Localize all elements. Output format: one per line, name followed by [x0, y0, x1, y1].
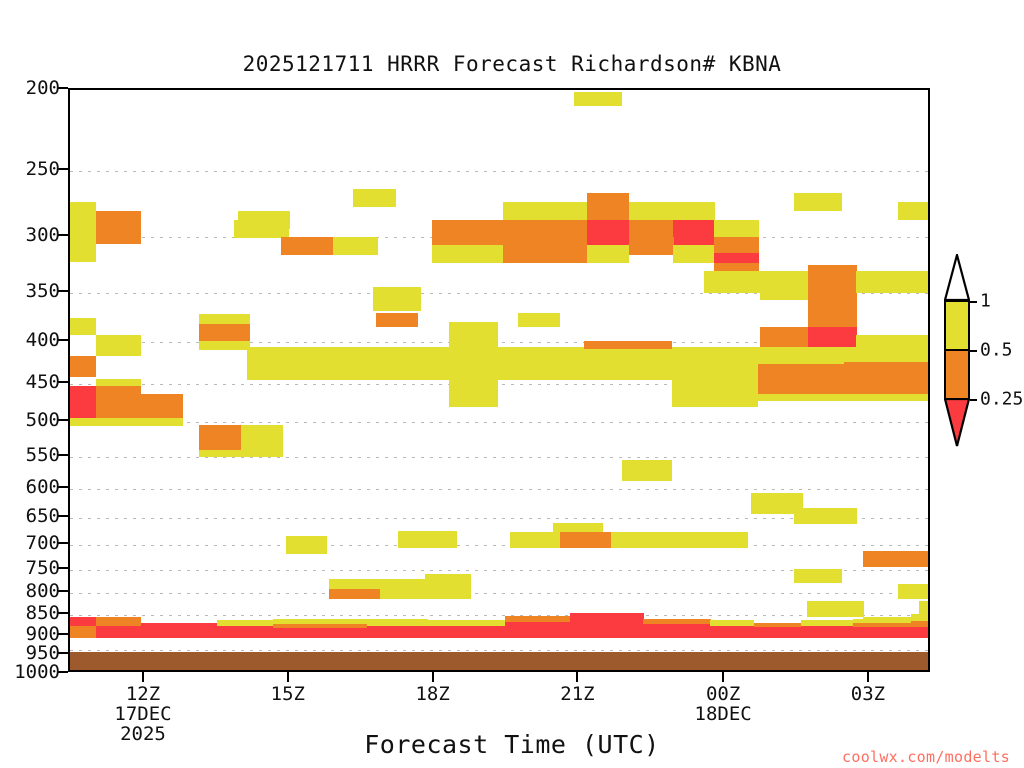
heatmap-cell	[199, 324, 250, 342]
heatmap-cell	[70, 238, 96, 262]
heatmap-cell	[141, 394, 183, 419]
heatmap-cell	[329, 589, 381, 599]
gridline	[70, 593, 928, 594]
terrain-block	[70, 652, 928, 670]
colorbar-tick	[970, 399, 977, 401]
chart-screenshot: 2025121711 HRRR Forecast Richardson# KBN…	[0, 0, 1024, 768]
heatmap-cell	[428, 626, 506, 638]
chart-title: 2025121711 HRRR Forecast Richardson# KBN…	[0, 52, 1024, 76]
heatmap-cell	[574, 92, 622, 106]
y-tick-label: 1000	[14, 661, 60, 683]
heatmap-cell	[794, 193, 842, 211]
colorbar-segment-yellow	[944, 300, 970, 349]
x-tick-label-line: 18DEC	[695, 705, 752, 725]
gridline	[70, 615, 928, 616]
x-tick-label-line: 17DEC	[114, 705, 171, 725]
x-tick-mark	[287, 672, 289, 682]
heatmap-cell	[584, 347, 673, 380]
colorbar-arrow-below-min	[944, 398, 970, 451]
heatmap-cell	[503, 202, 588, 220]
heatmap-cell	[70, 418, 141, 426]
heatmap-cell	[663, 532, 748, 548]
heatmap-cell	[367, 626, 428, 638]
y-tick-label: 650	[26, 505, 60, 527]
colorbar-segment-orange	[944, 349, 970, 398]
y-tick-label: 750	[26, 557, 60, 579]
heatmap-cell	[281, 237, 333, 255]
heatmap-cell	[273, 628, 368, 638]
heatmap-cell	[754, 627, 802, 638]
y-tick-label: 450	[26, 371, 60, 393]
x-tick-label-line: 03Z	[851, 685, 885, 705]
heatmap-cell	[853, 627, 912, 638]
heatmap-cell	[518, 313, 560, 326]
y-tick-label: 800	[26, 580, 60, 602]
x-tick-label-line: 18Z	[415, 685, 449, 705]
heatmap-cell	[673, 202, 714, 220]
heatmap-cell	[96, 211, 141, 229]
heatmap-cell	[70, 335, 96, 356]
y-tick-label: 600	[26, 476, 60, 498]
heatmap-cell	[629, 237, 674, 255]
heatmap-cell	[96, 228, 141, 243]
heatmap-cell	[141, 623, 217, 639]
x-tick-label-line: 12Z	[114, 685, 171, 705]
heatmap-cell	[96, 335, 141, 356]
y-axis: 2002503003504004505005506006507007508008…	[0, 88, 68, 672]
x-tick-mark	[142, 672, 144, 682]
heatmap-cell	[856, 271, 928, 293]
heatmap-cell	[373, 287, 421, 311]
x-tick-mark	[576, 672, 578, 682]
heatmap-cell	[199, 425, 241, 450]
heatmap-cell	[510, 532, 561, 548]
heatmap-cell	[672, 347, 759, 380]
heatmap-cell	[794, 569, 842, 584]
colorbar-arrow-above-max	[944, 254, 970, 305]
heatmap-cell	[247, 347, 334, 380]
gridline	[70, 422, 928, 423]
x-tick-mark	[432, 672, 434, 682]
heatmap-cell	[70, 386, 96, 419]
heatmap-cell	[587, 193, 629, 220]
heatmap-cell	[643, 624, 711, 638]
heatmap-cell	[498, 347, 585, 380]
x-tick-label-line: 15Z	[271, 685, 305, 705]
heatmap-cell	[333, 237, 378, 255]
heatmap-cell	[844, 347, 928, 362]
heatmap-cell	[911, 627, 928, 638]
heatmap-cell	[560, 532, 612, 548]
heatmap-cell	[96, 626, 141, 638]
colorbar-legend: 10.50.25	[944, 300, 970, 446]
heatmap-cell	[587, 220, 629, 246]
x-tick-mark	[867, 672, 869, 682]
x-tick-label: 00Z18DEC	[695, 685, 752, 725]
heatmap-cell	[794, 508, 857, 525]
y-tick-label: 250	[26, 158, 60, 180]
colorbar-label: 1	[980, 291, 991, 312]
gridline	[70, 171, 928, 172]
heatmap-cell	[234, 220, 289, 238]
heatmap-cell	[398, 531, 457, 548]
x-tick-label: 03Z	[851, 685, 885, 705]
heatmap-cell	[70, 202, 96, 239]
heatmap-cell	[70, 356, 96, 378]
heatmap-cell	[286, 536, 328, 554]
heatmap-cell	[622, 460, 673, 481]
heatmap-cell	[672, 379, 759, 406]
heatmap-cell	[70, 318, 96, 337]
heatmap-cell	[70, 626, 96, 638]
gridline	[70, 545, 928, 546]
heatmap-cell	[380, 579, 425, 598]
heatmap-cell	[714, 220, 759, 238]
heatmap-cell	[570, 613, 644, 638]
gridline	[70, 489, 928, 490]
heatmap-cell	[376, 313, 418, 326]
y-tick-label: 550	[26, 444, 60, 466]
heatmap-cell	[425, 574, 470, 599]
y-tick-label: 850	[26, 602, 60, 624]
colorbar-tick	[970, 350, 977, 352]
heatmap-cell	[801, 626, 853, 638]
plot-area	[68, 88, 930, 672]
heatmap-cell	[710, 626, 754, 639]
x-tick-mark	[722, 672, 724, 682]
heatmap-cell	[241, 425, 283, 457]
y-tick-label: 350	[26, 280, 60, 302]
heatmap-cell	[432, 245, 503, 263]
y-tick-label: 200	[26, 77, 60, 99]
heatmap-cell	[505, 616, 570, 622]
heatmap-cell	[629, 202, 674, 220]
heatmap-cell	[96, 386, 141, 419]
colorbar-label: 0.5	[980, 340, 1013, 361]
heatmap-cell	[808, 292, 857, 328]
y-tick-label: 500	[26, 409, 60, 431]
heatmap-cell	[353, 189, 397, 207]
x-tick-label: 15Z	[271, 685, 305, 705]
y-tick-label: 400	[26, 329, 60, 351]
heatmap-cell	[807, 601, 864, 617]
heatmap-cell	[363, 347, 450, 380]
heatmap-cell	[714, 237, 759, 253]
heatmap-cell	[758, 364, 845, 394]
x-tick-label-line: 21Z	[560, 685, 594, 705]
heatmap-cell	[449, 322, 498, 347]
x-tick-label: 21Z	[560, 685, 594, 705]
heatmap-cell	[808, 265, 857, 292]
heatmap-cell	[432, 220, 503, 246]
heatmap-cell	[584, 341, 673, 349]
heatmap-cell	[863, 551, 928, 567]
heatmap-cell	[199, 341, 250, 350]
heatmap-cell	[587, 245, 629, 263]
y-tick-label: 700	[26, 532, 60, 554]
heatmap-cell	[199, 450, 241, 458]
heatmap-cell	[449, 379, 498, 406]
heatmap-cell	[503, 245, 588, 263]
colorbar-divider	[944, 349, 970, 351]
surface-gridline	[70, 650, 928, 651]
colorbar-tick	[970, 301, 977, 303]
x-tick-label: 18Z	[415, 685, 449, 705]
heatmap-cell	[844, 362, 928, 395]
heatmap-cell	[141, 418, 183, 426]
heatmap-cell	[898, 202, 928, 220]
heatmap-cell	[611, 532, 663, 548]
colorbar-label: 0.25	[980, 389, 1023, 410]
credit-watermark: coolwx.com/modelts	[842, 748, 1010, 766]
heatmap-cells	[70, 90, 928, 670]
x-tick-label-line: 00Z	[695, 685, 752, 705]
heatmap-cell	[704, 271, 761, 293]
heatmap-cell	[714, 253, 759, 264]
heatmap-cell	[217, 626, 274, 638]
heatmap-cell	[760, 271, 809, 293]
heatmap-cell	[898, 584, 928, 599]
heatmap-cell	[760, 292, 809, 300]
heatmap-cell	[199, 314, 250, 325]
heatmap-cell	[449, 347, 498, 380]
y-tick-label: 300	[26, 224, 60, 246]
heatmap-cell	[673, 220, 714, 246]
heatmap-cell	[503, 220, 588, 246]
heatmap-cell	[758, 394, 928, 402]
heatmap-cell	[673, 245, 714, 263]
